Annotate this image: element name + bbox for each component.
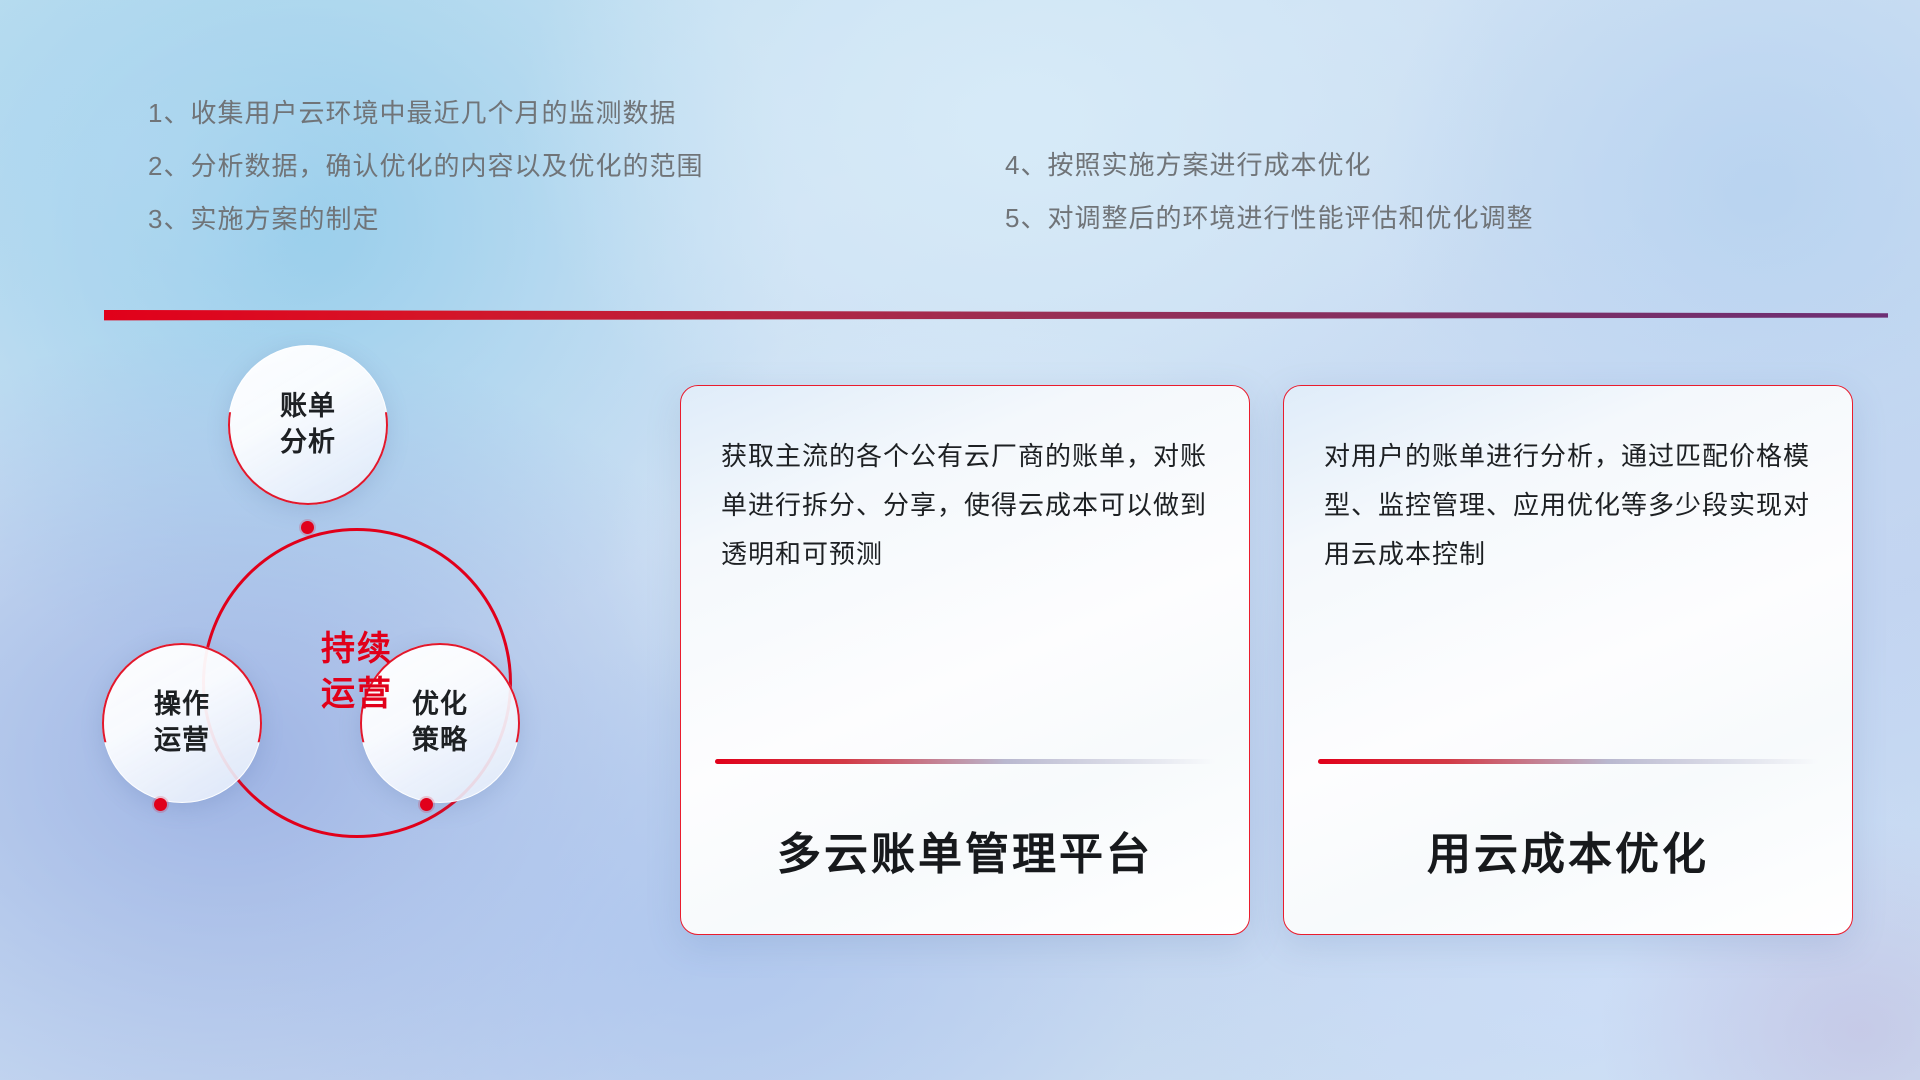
venn-node-top-dot — [301, 521, 314, 534]
step-item-4: 4、按照实施方案进行成本优化 — [1005, 152, 1533, 178]
venn-node-left-dot — [154, 798, 167, 811]
step-item-5: 5、对调整后的环境进行性能评估和优化调整 — [1005, 205, 1533, 231]
card-1-body: 获取主流的各个公有云厂商的账单，对账单进行拆分、分享，使得云成本可以做到透明和可… — [721, 432, 1209, 579]
step-item-3: 3、实施方案的制定 — [148, 206, 703, 232]
step-item-2: 2、分析数据，确认优化的内容以及优化的范围 — [148, 153, 703, 179]
venn-center-line1: 持续 — [277, 627, 437, 672]
card-cloud-cost-optimization[interactable]: 对用户的账单进行分析，通过匹配价格模型、监控管理、应用优化等多少段实现对用云成本… — [1283, 385, 1853, 935]
venn-diagram: 账单 分析 操作 运营 优化 策略 持续 运营 — [80, 345, 600, 935]
card-2-body: 对用户的账单进行分析，通过匹配价格模型、监控管理、应用优化等多少段实现对用云成本… — [1324, 432, 1812, 579]
step-item-1: 1、收集用户云环境中最近几个月的监测数据 — [148, 100, 703, 126]
card-1-rule — [715, 759, 1215, 764]
venn-node-right-dot — [420, 798, 433, 811]
card-1-title: 多云账单管理平台 — [681, 818, 1249, 882]
card-multi-cloud-billing[interactable]: 获取主流的各个公有云厂商的账单，对账单进行拆分、分享，使得云成本可以做到透明和可… — [680, 385, 1250, 935]
venn-center-label: 持续 运营 — [277, 627, 437, 717]
card-2-title: 用云成本优化 — [1284, 818, 1852, 882]
card-2-rule — [1318, 759, 1818, 764]
steps-list-left: 1、收集用户云环境中最近几个月的监测数据 2、分析数据，确认优化的内容以及优化的… — [148, 100, 703, 259]
steps-list-right: 4、按照实施方案进行成本优化 5、对调整后的环境进行性能评估和优化调整 — [1005, 152, 1533, 258]
venn-center-line2: 运营 — [277, 672, 437, 717]
section-divider — [104, 310, 1888, 321]
